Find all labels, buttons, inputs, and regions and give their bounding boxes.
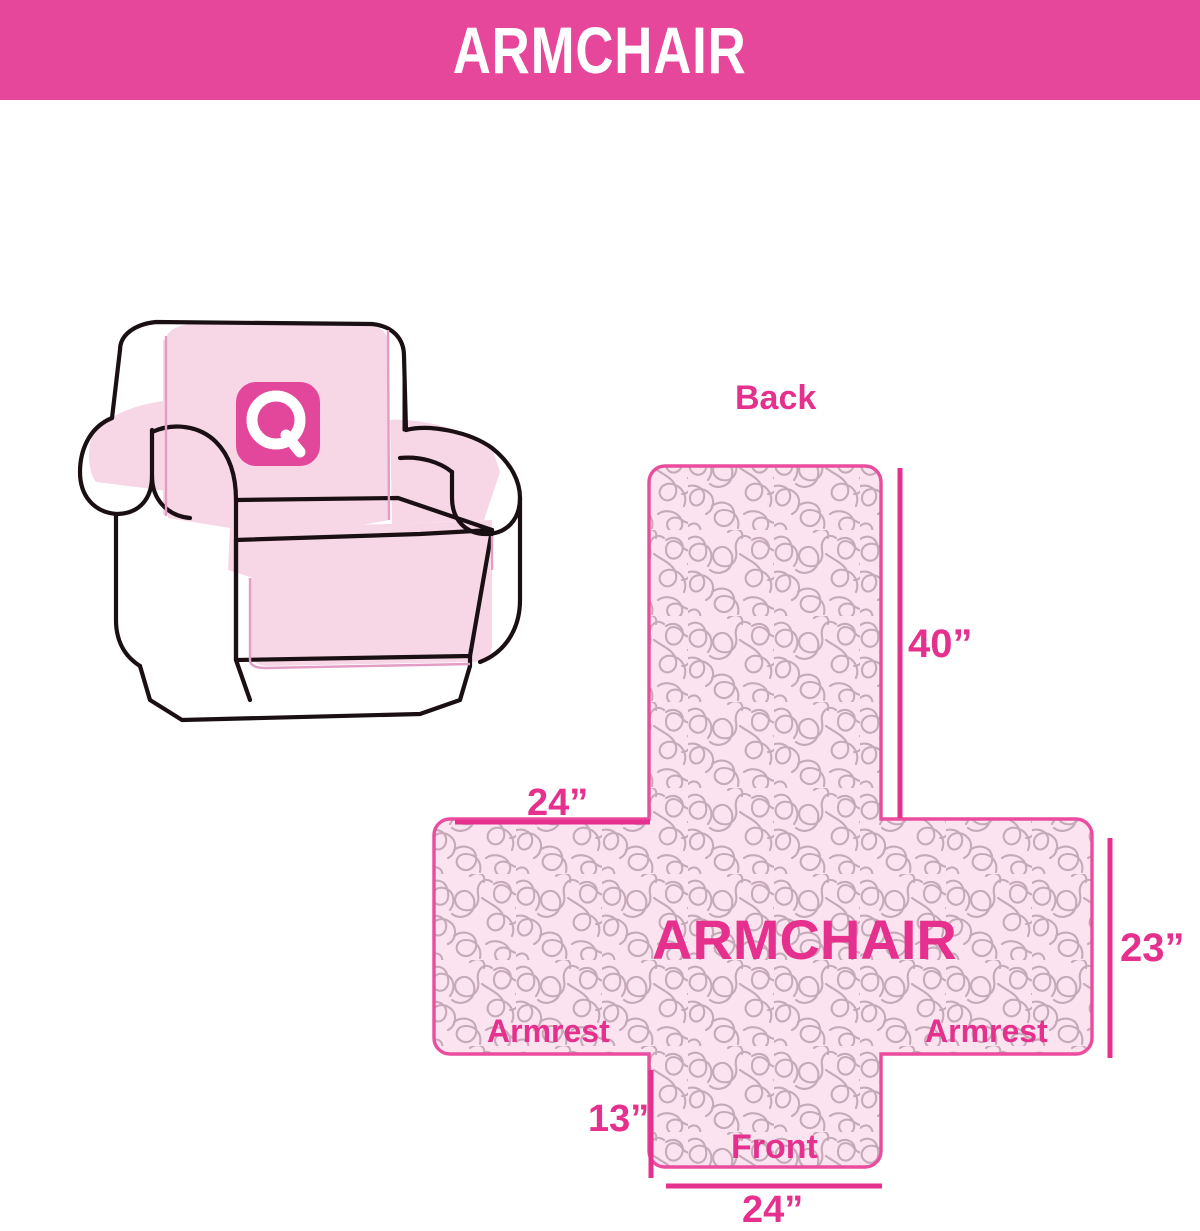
- header-bar: ARMCHAIR: [0, 0, 1200, 100]
- panel-label-front: Front: [731, 1130, 818, 1164]
- panel-label-armrest-right: Armrest: [925, 1015, 1048, 1047]
- dimension-label-24-top: 24”: [527, 784, 588, 822]
- armchair-illustration: [80, 322, 520, 720]
- dimension-label-40: 40”: [908, 624, 973, 664]
- panel-label-back: Back: [735, 381, 816, 415]
- product-dimension-diagram: ARMCHAIR: [0, 0, 1200, 1200]
- dimension-label-23: 23”: [1120, 928, 1185, 968]
- brand-logo: [236, 382, 320, 466]
- panel-label-armrest-left: Armrest: [487, 1015, 610, 1047]
- pattern-center-label: ARMCHAIR: [652, 912, 957, 968]
- dimension-label-13: 13”: [588, 1100, 649, 1138]
- page-title: ARMCHAIR: [453, 17, 747, 83]
- dimension-label-24-bottom: 24”: [742, 1191, 803, 1229]
- diagram-stage: Back Armrest Armrest Front ARMCHAIR 40” …: [0, 100, 1200, 1200]
